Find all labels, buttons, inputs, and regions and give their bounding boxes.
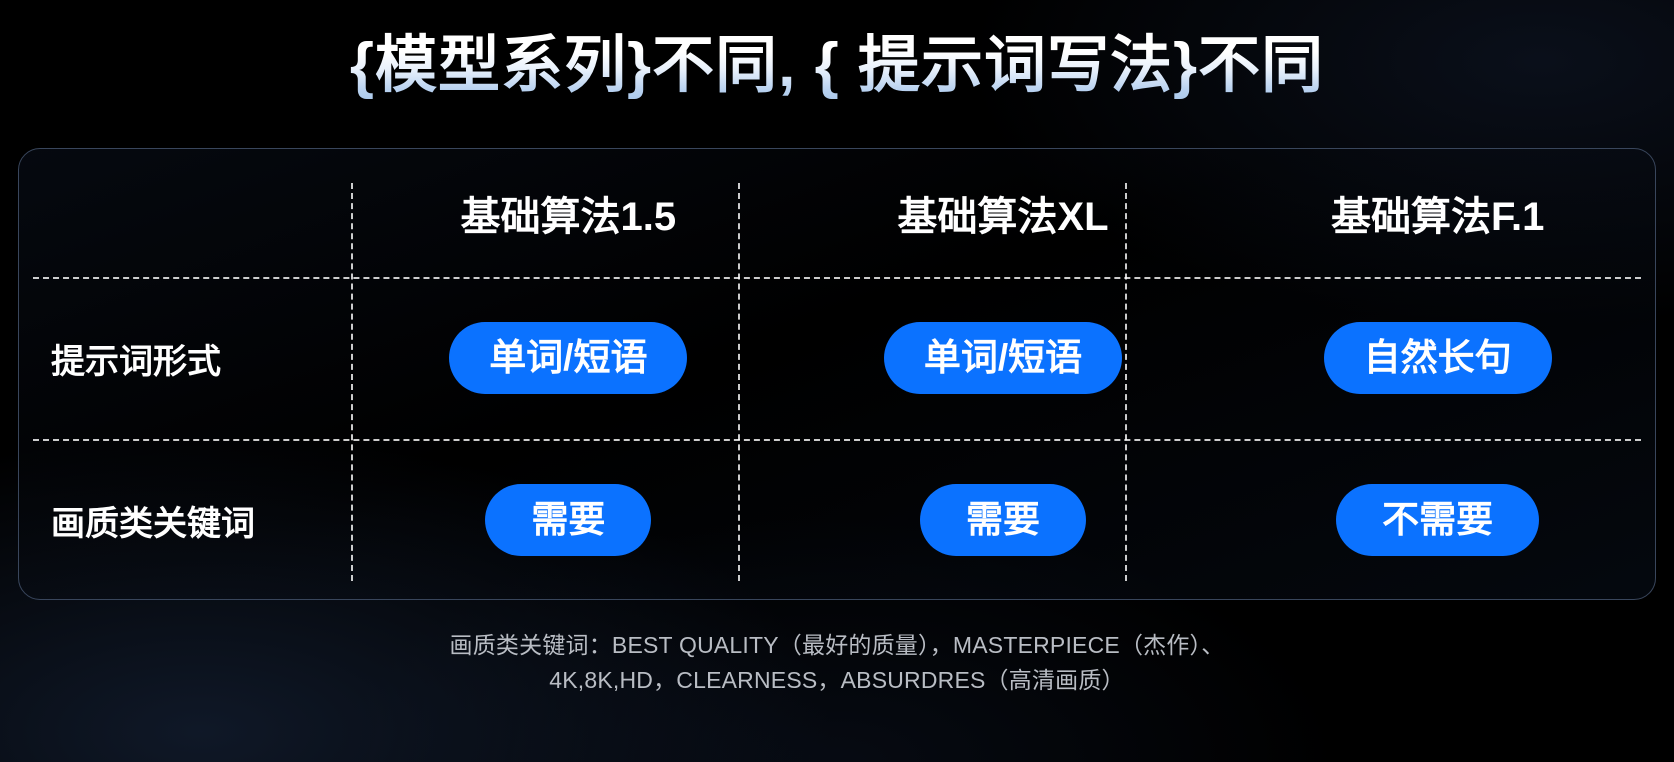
- column-header-label: 基础算法F.1: [1331, 184, 1544, 242]
- value-pill: 需要: [485, 484, 651, 556]
- table-cell-r2c2: 需要: [786, 439, 1221, 600]
- column-header-label: 基础算法1.5: [461, 184, 677, 242]
- table-cell-r1c1: 单词/短语: [351, 277, 786, 439]
- value-pill: 单词/短语: [884, 322, 1122, 394]
- column-header-1: 基础算法1.5: [351, 149, 786, 277]
- value-pill: 不需要: [1336, 484, 1539, 556]
- page-title: {模型系列}不同, { 提示词写法}不同: [350, 14, 1324, 104]
- comparison-table: 基础算法1.5 基础算法XL 基础算法F.1 提示词形式 单词/短语 单词/短语…: [19, 149, 1655, 599]
- column-header-3: 基础算法F.1: [1220, 149, 1655, 277]
- comparison-table-card: 基础算法1.5 基础算法XL 基础算法F.1 提示词形式 单词/短语 单词/短语…: [18, 148, 1656, 600]
- row-header-label: 画质类关键词: [51, 496, 255, 545]
- footnote-line-1: 画质类关键词：BEST QUALITY（最好的质量），MASTERPIECE（杰…: [0, 628, 1674, 663]
- row-header-2: 画质类关键词: [19, 439, 351, 600]
- footnote: 画质类关键词：BEST QUALITY（最好的质量），MASTERPIECE（杰…: [0, 628, 1674, 698]
- table-cell-r1c2: 单词/短语: [786, 277, 1221, 439]
- footnote-line-2: 4K,8K,HD，CLEARNESS，ABSURDRES（高清画质）: [0, 663, 1674, 698]
- value-pill: 自然长句: [1324, 322, 1552, 394]
- column-header-2: 基础算法XL: [786, 149, 1221, 277]
- table-cell-r2c1: 需要: [351, 439, 786, 600]
- value-pill: 需要: [920, 484, 1086, 556]
- value-pill: 单词/短语: [449, 322, 687, 394]
- page-title-container: {模型系列}不同, { 提示词写法}不同: [0, 0, 1674, 118]
- table-cell-r1c3: 自然长句: [1220, 277, 1655, 439]
- column-header-label: 基础算法XL: [897, 184, 1108, 242]
- table-cell-r2c3: 不需要: [1220, 439, 1655, 600]
- table-corner-cell: [19, 149, 351, 277]
- row-header-label: 提示词形式: [51, 334, 221, 383]
- row-header-1: 提示词形式: [19, 277, 351, 439]
